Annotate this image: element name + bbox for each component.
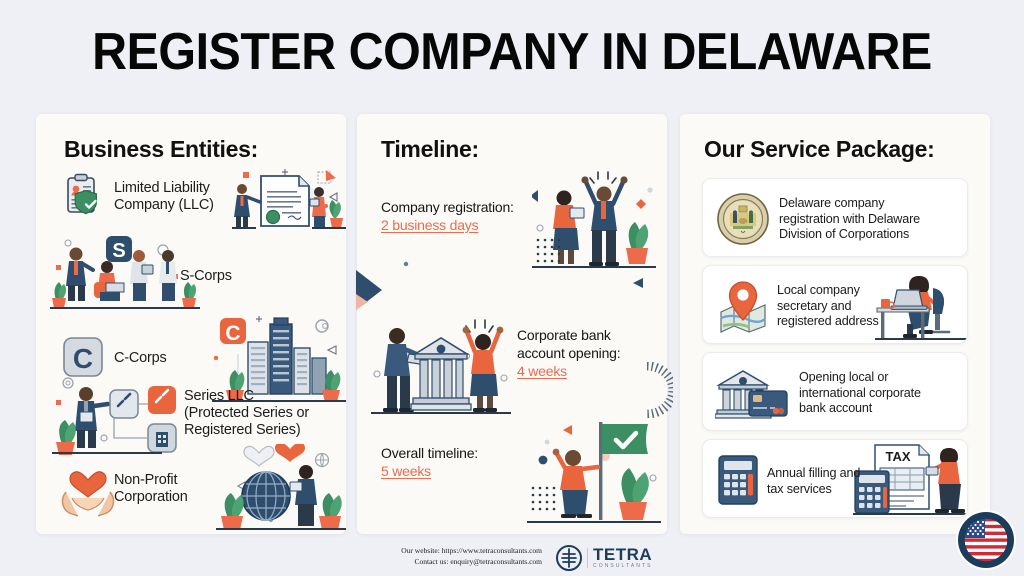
pencil-decoration-icon <box>352 264 388 312</box>
usa-flag-badge-icon <box>955 509 1017 571</box>
tetra-logo: TETRA CONSULTANTS <box>556 545 653 571</box>
team-people-illustration: S <box>50 234 200 312</box>
document-signing-illustration <box>226 166 346 234</box>
tetra-monogram-icon <box>556 545 582 571</box>
heart-hands-icon <box>58 468 118 518</box>
service-card-text-registration: Delaware company registration with Delaw… <box>779 196 961 243</box>
entity-label-llc: Limited Liability Company (LLC) <box>114 180 224 214</box>
timeline-label-registration: Company registration: <box>381 198 531 216</box>
svg-text:S: S <box>112 240 125 262</box>
bank-card-icon <box>715 365 789 421</box>
service-package-heading: Our Service Package: <box>704 136 935 163</box>
infographic-page: REGISTER COMPANY IN DELAWARE Business En… <box>0 0 1024 576</box>
svg-text:C: C <box>225 322 240 345</box>
timeline-value-registration: 2 business days <box>381 216 531 234</box>
dot-decoration-icon <box>403 254 409 260</box>
footer-logo-divider <box>587 548 588 568</box>
footer-brand-block: TETRA CONSULTANTS <box>593 547 653 569</box>
business-entities-heading: Business Entities: <box>64 136 258 163</box>
timeline-item-overall: Overall timeline: 5 weeks <box>381 444 531 480</box>
service-card-text-secretary: Local company secretary and registered a… <box>777 283 897 330</box>
entity-label-ccorps: C-Corps <box>114 350 167 367</box>
map-pin-icon <box>715 278 771 334</box>
timeline-label-overall: Overall timeline: <box>381 444 531 462</box>
bank-celebration-illustration <box>371 312 511 422</box>
footer-brand-name: TETRA <box>593 547 653 563</box>
svg-text:TAX: TAX <box>885 449 910 464</box>
clipboard-shield-icon <box>60 172 108 220</box>
calculator-icon <box>717 454 759 506</box>
timeline-label-bank-account: Corporate bank account opening: <box>517 326 657 362</box>
entity-row-scorps: S <box>36 234 346 306</box>
footer-contact-line: Contact us: enquiry@tetraconsultants.com <box>401 557 542 568</box>
service-card-text-bank-account: Opening local or international corporate… <box>799 370 959 417</box>
footer-brand-tagline: CONSULTANTS <box>593 563 653 569</box>
timeline-heading: Timeline: <box>381 136 479 163</box>
timeline-value-overall: 5 weeks <box>381 462 531 480</box>
entity-row-llc: Limited Liability Company (LLC) <box>36 170 346 228</box>
timeline-item-registration: Company registration: 2 business days <box>381 198 531 234</box>
businessman-chart-illustration <box>52 374 202 460</box>
business-entities-panel: Business Entities: Limi <box>36 114 346 534</box>
timeline-value-bank-account: 4 weeks <box>517 362 657 380</box>
footer: Our website: https://www.tetraconsultant… <box>0 543 1024 576</box>
entity-label-scorps: S-Corps <box>180 268 232 285</box>
entity-label-nonprofit: Non-Profit Corporation <box>114 472 224 506</box>
timeline-item-bank-account: Corporate bank account opening: 4 weeks <box>517 326 657 380</box>
footer-contact-block: Our website: https://www.tetraconsultant… <box>401 546 542 567</box>
timeline-panel: Timeline: Company registration: 2 busine… <box>357 114 667 534</box>
service-card-tax[interactable]: TAX <box>702 439 968 518</box>
service-card-registration[interactable]: Delaware company registration with Delaw… <box>702 178 968 257</box>
service-card-bank-account[interactable]: Opening local or international corporate… <box>702 352 968 431</box>
service-card-secretary[interactable]: Local company secretary and registered a… <box>702 265 968 344</box>
entity-row-nonprofit: Non-Profit Corporation <box>36 454 346 526</box>
entity-row-series-llc: Series LLC (Protected Series or Register… <box>36 366 346 454</box>
delaware-state-seal-icon <box>717 193 769 245</box>
globe-woman-illustration <box>214 444 346 534</box>
flag-checkmark-illustration <box>527 414 661 530</box>
triangle-decoration-icon <box>631 276 645 290</box>
celebrating-couple-illustration <box>532 166 658 276</box>
entity-label-series-llc: Series LLC (Protected Series or Register… <box>184 388 334 439</box>
footer-website-line: Our website: https://www.tetraconsultant… <box>401 546 542 557</box>
page-title: REGISTER COMPANY IN DELAWARE <box>36 22 988 82</box>
service-card-text-tax: Annual filling and tax services <box>767 466 887 497</box>
